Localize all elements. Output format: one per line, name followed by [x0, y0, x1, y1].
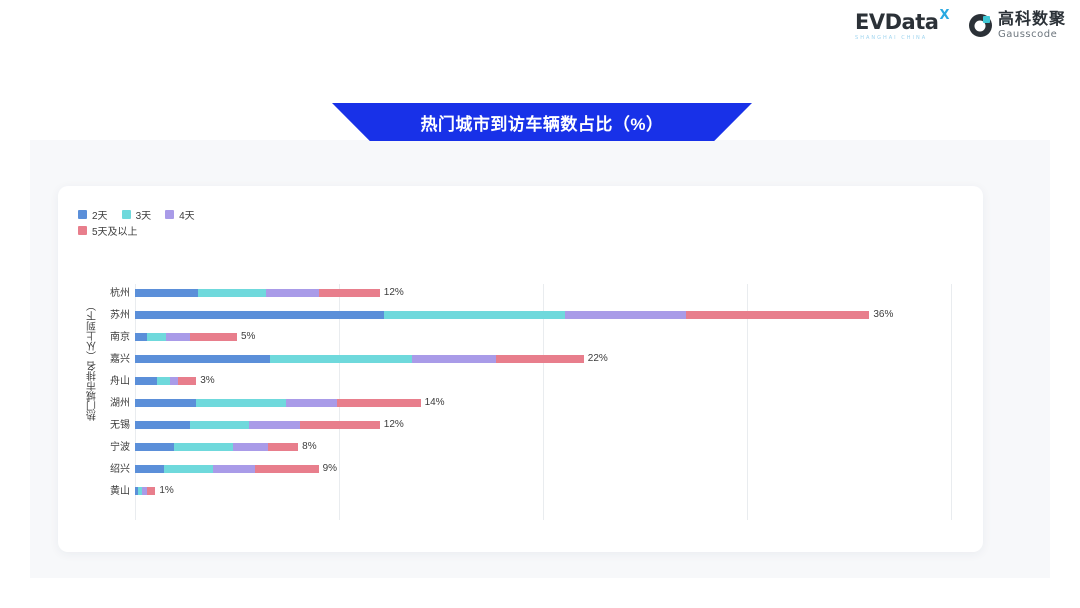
bar-value-label: 36% — [873, 311, 893, 319]
bar-segment[interactable] — [213, 465, 256, 473]
title-banner: 热门城市到访车辆数占比（%） — [332, 103, 752, 141]
stacked-bar[interactable]: 12% — [135, 421, 404, 429]
gausscode-logo: 高科数聚 Gausscode — [969, 12, 1066, 40]
y-axis-tick-label: 宁波 — [58, 442, 130, 453]
y-axis-tick-label: 舟山 — [58, 376, 130, 387]
y-axis-tick-label: 嘉兴 — [58, 354, 130, 365]
bar-segment[interactable] — [170, 377, 178, 385]
bar-segment[interactable] — [166, 333, 190, 341]
evdata-x-icon: X — [939, 9, 949, 22]
chart-row: 无锡12% — [58, 414, 983, 436]
y-axis-tick-label: 黄山 — [58, 486, 130, 497]
bar-segment[interactable] — [190, 421, 249, 429]
bar-segment[interactable] — [147, 333, 165, 341]
bar-segment[interactable] — [135, 421, 190, 429]
bar-segment[interactable] — [190, 333, 237, 341]
stacked-bar[interactable]: 22% — [135, 355, 608, 363]
chart-row: 嘉兴22% — [58, 348, 983, 370]
bar-segment[interactable] — [135, 465, 164, 473]
stacked-bar[interactable]: 9% — [135, 465, 337, 473]
chart-row: 绍兴9% — [58, 458, 983, 480]
gausscode-name-en: Gausscode — [998, 30, 1066, 40]
bar-segment[interactable] — [135, 377, 157, 385]
bar-value-label: 1% — [159, 487, 173, 495]
chart-row: 宁波8% — [58, 436, 983, 458]
y-axis-tick-label: 苏州 — [58, 310, 130, 321]
bar-segment[interactable] — [135, 399, 196, 407]
chart-row: 苏州36% — [58, 304, 983, 326]
y-axis-tick-label: 绍兴 — [58, 464, 130, 475]
chart-row: 南京5% — [58, 326, 983, 348]
bar-value-label: 3% — [200, 377, 214, 385]
page-title: 热门城市到访车辆数占比（%） — [420, 110, 663, 135]
gausscode-wordmark: 高科数聚 Gausscode — [998, 12, 1066, 40]
bar-segment[interactable] — [286, 399, 337, 407]
chart-row: 黄山1% — [58, 480, 983, 502]
bar-segment[interactable] — [255, 465, 318, 473]
chart-row: 湖州14% — [58, 392, 983, 414]
bar-segment[interactable] — [686, 311, 870, 319]
chart-row: 舟山3% — [58, 370, 983, 392]
y-axis-tick-label: 南京 — [58, 332, 130, 343]
bar-segment[interactable] — [135, 333, 147, 341]
evdata-logo: EVData X SHANGHAI CHINA — [855, 10, 949, 41]
y-axis-tick-label: 杭州 — [58, 288, 130, 299]
evdata-wordmark: EVData X — [855, 10, 949, 34]
bar-value-label: 14% — [425, 399, 445, 407]
stacked-bar[interactable]: 5% — [135, 333, 255, 341]
bar-value-label: 12% — [384, 421, 404, 429]
logo-group: EVData X SHANGHAI CHINA 高科数聚 Gausscode — [855, 10, 1066, 41]
y-axis-tick-label: 无锡 — [58, 420, 130, 431]
evdata-name: EVData — [855, 10, 938, 34]
bar-segment[interactable] — [412, 355, 496, 363]
bar-segment[interactable] — [135, 289, 198, 297]
top-logo-bar: EVData X SHANGHAI CHINA 高科数聚 Gausscode — [0, 0, 1080, 56]
stacked-bar[interactable]: 36% — [135, 311, 893, 319]
bar-segment[interactable] — [268, 443, 299, 451]
gausscode-name-cn: 高科数聚 — [998, 12, 1066, 28]
chart-plot-area: 热门城市排名（从上到下） 杭州12%苏州36%南京5%嘉兴22%舟山3%湖州14… — [58, 186, 983, 552]
bar-segment[interactable] — [319, 289, 380, 297]
bar-segment[interactable] — [164, 465, 213, 473]
bar-segment[interactable] — [496, 355, 584, 363]
bar-segment[interactable] — [174, 443, 233, 451]
bar-segment[interactable] — [565, 311, 685, 319]
stacked-bar[interactable]: 8% — [135, 443, 317, 451]
bar-segment[interactable] — [135, 311, 384, 319]
bar-segment[interactable] — [157, 377, 169, 385]
bar-rows: 杭州12%苏州36%南京5%嘉兴22%舟山3%湖州14%无锡12%宁波8%绍兴9… — [58, 282, 983, 502]
bar-segment[interactable] — [178, 377, 196, 385]
stacked-bar[interactable]: 14% — [135, 399, 445, 407]
bar-segment[interactable] — [147, 487, 155, 495]
bar-segment[interactable] — [337, 399, 421, 407]
bar-value-label: 5% — [241, 333, 255, 341]
bar-segment[interactable] — [233, 443, 268, 451]
chart-row: 杭州12% — [58, 282, 983, 304]
y-axis-tick-label: 湖州 — [58, 398, 130, 409]
bar-segment[interactable] — [135, 355, 270, 363]
evdata-tagline: SHANGHAI CHINA — [855, 35, 927, 41]
stacked-bar[interactable]: 3% — [135, 377, 215, 385]
bar-segment[interactable] — [249, 421, 300, 429]
bar-segment[interactable] — [384, 311, 566, 319]
bar-segment[interactable] — [196, 399, 286, 407]
bar-segment[interactable] — [270, 355, 413, 363]
bar-value-label: 9% — [323, 465, 337, 473]
bar-value-label: 22% — [588, 355, 608, 363]
bar-segment[interactable] — [198, 289, 265, 297]
bar-value-label: 12% — [384, 289, 404, 297]
stacked-bar[interactable]: 1% — [135, 487, 174, 495]
bar-segment[interactable] — [300, 421, 380, 429]
bar-segment[interactable] — [266, 289, 319, 297]
bar-value-label: 8% — [302, 443, 316, 451]
stacked-bar[interactable]: 12% — [135, 289, 404, 297]
chart-card: 2天3天4天5天及以上 热门城市排名（从上到下） 杭州12%苏州36%南京5%嘉… — [58, 186, 983, 552]
gausscode-mark-icon — [969, 14, 992, 37]
bar-segment[interactable] — [135, 443, 174, 451]
